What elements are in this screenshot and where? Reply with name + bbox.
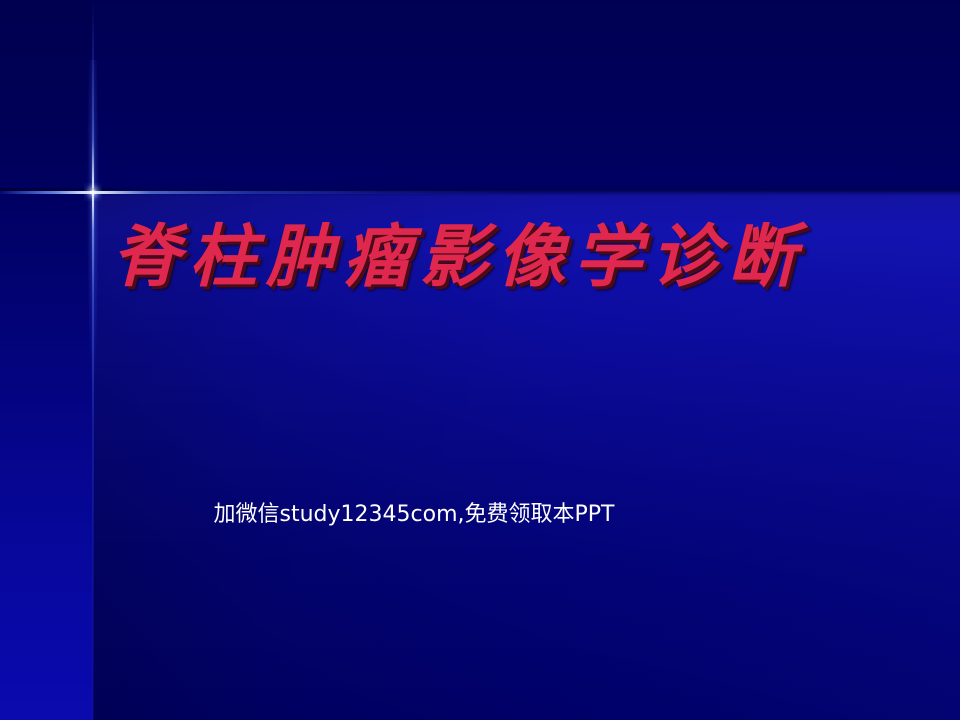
crosshair-center-icon — [84, 183, 102, 201]
slide-title: 脊柱肿瘤影像学诊断 — [112, 216, 852, 298]
slide-background-left-strip — [0, 0, 93, 720]
presentation-slide: 脊柱肿瘤影像学诊断 加微信study12345com,免费领取本PPT — [0, 0, 960, 720]
crosshair-vertical-line — [92, 0, 94, 720]
slide-subtitle: 加微信study12345com,免费领取本PPT — [0, 500, 828, 530]
crosshair-horizontal-line — [0, 191, 520, 194]
